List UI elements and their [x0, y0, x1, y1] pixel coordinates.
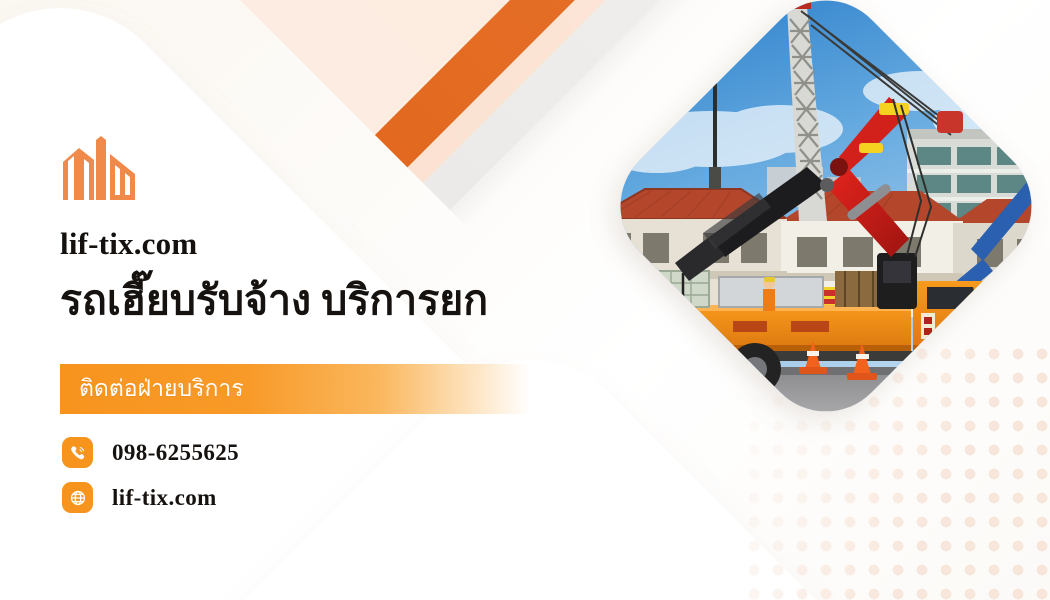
- contact-phone-label: 098-6255625: [112, 440, 239, 466]
- globe-icon: [62, 482, 93, 513]
- contact-website-row[interactable]: lif-tix.com: [62, 482, 217, 513]
- brand-name: lif-tix.com: [60, 226, 197, 262]
- phone-icon: [62, 437, 93, 468]
- banner-canvas: lif-tix.com รถเฮี๊ยบรับจ้าง บริการยก ติด…: [0, 0, 1050, 600]
- page-title: รถเฮี๊ยบรับจ้าง บริการยก: [60, 276, 488, 324]
- contact-service-banner-label: ติดต่อฝ่ายบริการ: [79, 371, 244, 407]
- contact-service-banner[interactable]: ติดต่อฝ่ายบริการ: [60, 364, 530, 414]
- content-column: lif-tix.com รถเฮี๊ยบรับจ้าง บริการยก ติด…: [60, 0, 680, 600]
- contact-website-label: lif-tix.com: [112, 485, 217, 511]
- contact-phone-row[interactable]: 098-6255625: [62, 437, 239, 468]
- building-skyline-icon: [63, 136, 135, 200]
